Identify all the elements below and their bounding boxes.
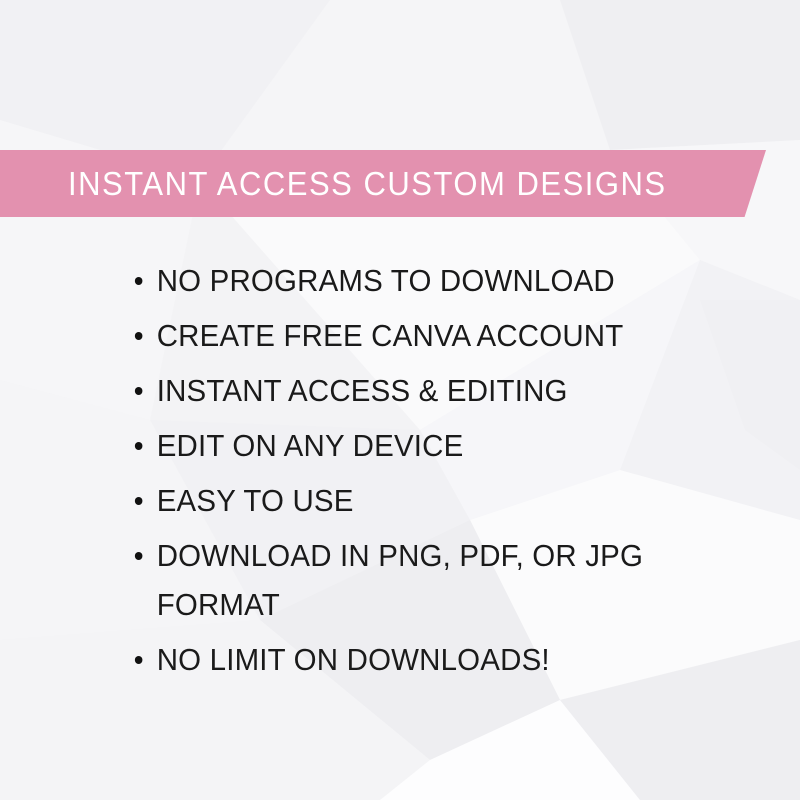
list-item-label: INSTANT ACCESS & EDITING (157, 366, 689, 415)
bullet-icon (135, 442, 143, 450)
list-item-label: CREATE FREE CANVA ACCOUNT (157, 311, 689, 360)
bullet-icon (135, 387, 143, 395)
list-item-label: DOWNLOAD IN PNG, PDF, OR JPG FORMAT (157, 531, 689, 629)
list-item-label: EASY TO USE (157, 476, 689, 525)
list-item: CREATE FREE CANVA ACCOUNT (132, 311, 740, 360)
promo-graphic: INSTANT ACCESS CUSTOM DESIGNS NO PROGRAM… (0, 0, 800, 800)
bullet-icon (135, 497, 143, 505)
list-item: INSTANT ACCESS & EDITING (132, 366, 740, 415)
bullet-icon (135, 656, 143, 664)
list-item: EASY TO USE (132, 476, 740, 525)
list-item: DOWNLOAD IN PNG, PDF, OR JPG FORMAT (132, 531, 740, 629)
bullet-icon (135, 552, 143, 560)
bullet-icon (135, 332, 143, 340)
list-item: NO PROGRAMS TO DOWNLOAD (132, 256, 740, 305)
list-item-label: NO PROGRAMS TO DOWNLOAD (157, 256, 689, 305)
list-item: NO LIMIT ON DOWNLOADS! (132, 635, 740, 684)
bullet-icon (135, 277, 143, 285)
headline-text: INSTANT ACCESS CUSTOM DESIGNS (68, 167, 667, 200)
headline-banner: INSTANT ACCESS CUSTOM DESIGNS (0, 150, 766, 217)
list-item-label: EDIT ON ANY DEVICE (157, 421, 689, 470)
list-item: EDIT ON ANY DEVICE (132, 421, 740, 470)
feature-list: NO PROGRAMS TO DOWNLOAD CREATE FREE CANV… (132, 256, 772, 690)
list-item-label: NO LIMIT ON DOWNLOADS! (157, 635, 689, 684)
